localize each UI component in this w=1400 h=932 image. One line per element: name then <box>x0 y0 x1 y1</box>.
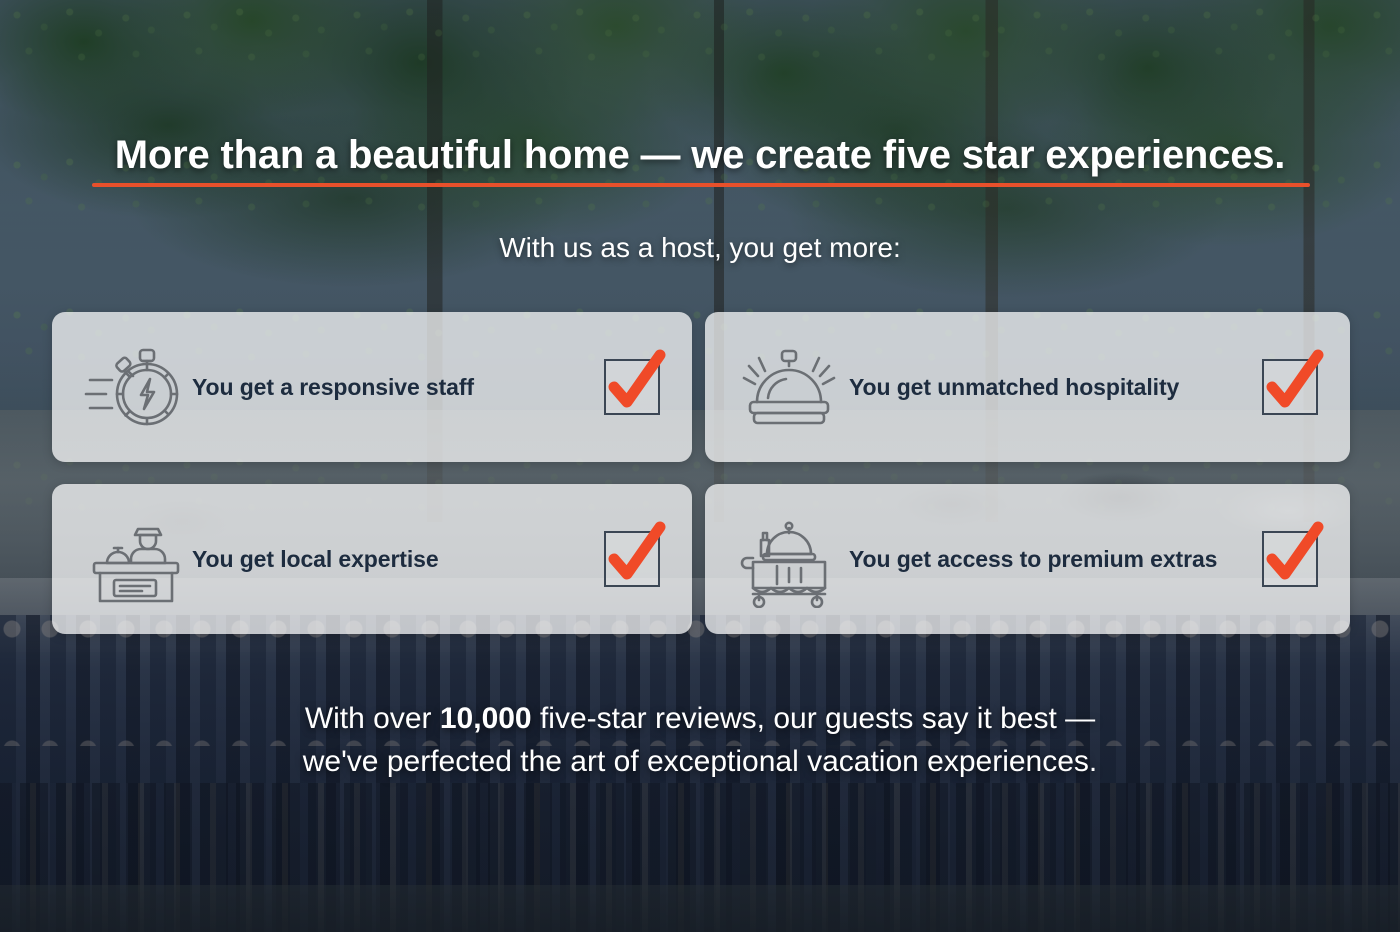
reviews-count: 10,000 <box>440 702 532 735</box>
benefit-label: You get access to premium extras <box>849 546 1230 573</box>
benefit-card-local-expertise[interactable]: You get local expertise <box>52 484 692 634</box>
benefit-checkbox-wrap[interactable] <box>1230 359 1350 415</box>
check-icon <box>600 517 670 591</box>
benefit-card-premium-extras[interactable]: You get access to premium extras <box>705 484 1350 634</box>
check-icon <box>1258 517 1328 591</box>
reviews-statement: With over 10,000 five-star reviews, our … <box>0 698 1400 783</box>
benefit-label: You get local expertise <box>192 546 572 573</box>
reviews-line1-after: five-star reviews, our guests say it bes… <box>532 702 1096 735</box>
headline-container: More than a beautiful home — we create f… <box>0 132 1400 178</box>
stopwatch-speed-icon <box>76 339 196 435</box>
reviews-line1-before: With over <box>305 702 440 735</box>
checkbox-local-expertise[interactable] <box>604 531 660 587</box>
marketing-hero-section: More than a beautiful home — we create f… <box>0 0 1400 932</box>
checkbox-responsive-staff[interactable] <box>604 359 660 415</box>
benefit-checkbox-wrap[interactable] <box>572 531 692 587</box>
checkbox-unmatched-hospitality[interactable] <box>1262 359 1318 415</box>
benefit-label: You get a responsive staff <box>192 374 572 401</box>
page-title: More than a beautiful home — we create f… <box>111 132 1289 178</box>
room-service-cart-icon <box>729 510 849 608</box>
benefit-label: You get unmatched hospitality <box>849 374 1230 401</box>
check-icon <box>1258 345 1328 419</box>
subheadline: With us as a host, you get more: <box>0 232 1400 264</box>
benefit-checkbox-wrap[interactable] <box>572 359 692 415</box>
reviews-line2: we've perfected the art of exceptional v… <box>303 745 1098 778</box>
benefit-card-responsive-staff[interactable]: You get a responsive staff <box>52 312 692 462</box>
benefits-card-grid: You get a responsive staff <box>52 312 1352 634</box>
headline-underline-rule <box>92 183 1310 187</box>
benefit-card-unmatched-hospitality[interactable]: You get unmatched hospitality <box>705 312 1350 462</box>
reception-desk-icon <box>76 512 196 606</box>
check-icon <box>600 345 670 419</box>
checkbox-premium-extras[interactable] <box>1262 531 1318 587</box>
benefit-checkbox-wrap[interactable] <box>1230 531 1350 587</box>
service-bell-icon <box>729 340 849 434</box>
